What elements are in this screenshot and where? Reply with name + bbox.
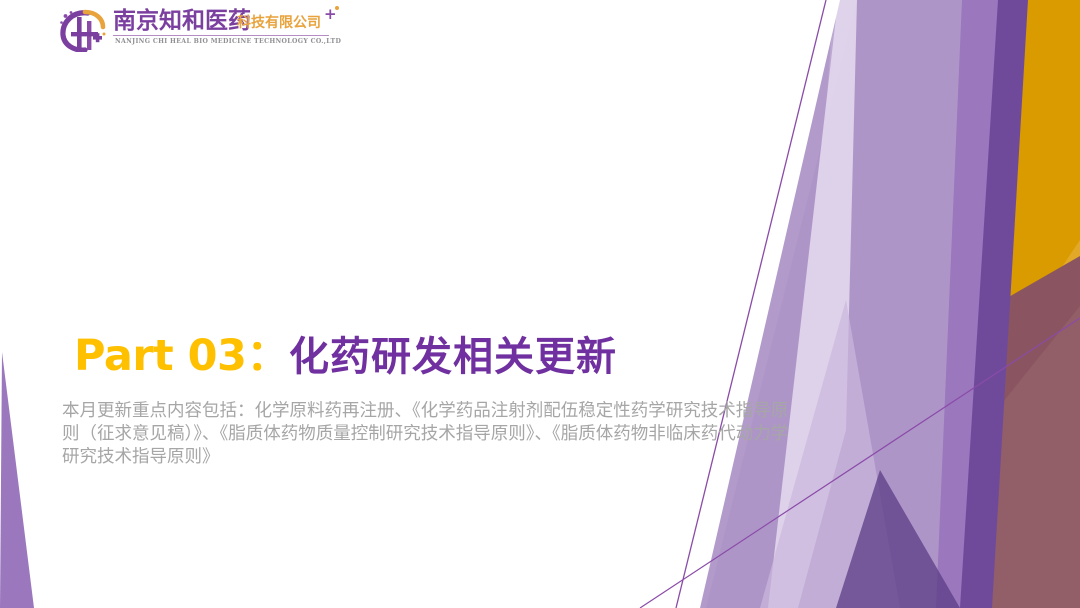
logo-text-block: 南京知和医药 科技有限公司 + NANJING CHI HEAL BIO MED… xyxy=(113,6,363,54)
purple-deep-band-icon xyxy=(790,0,1030,608)
logo-divider xyxy=(113,35,329,36)
logo-company-suffix-cn: 科技有限公司 xyxy=(237,14,321,32)
company-logo: 南京知和医药 科技有限公司 + NANJING CHI HEAL BIO MED… xyxy=(58,6,358,54)
background-decoration-art xyxy=(0,0,1080,608)
white-stripe-icon xyxy=(672,0,840,608)
lilac-sliver-icon xyxy=(790,0,862,608)
right-band-cluster-icon xyxy=(694,0,1080,608)
white-foreground-field-icon xyxy=(0,0,826,608)
logo-company-name-en: NANJING CHI HEAL BIO MEDICINE TECHNOLOGY… xyxy=(115,37,341,46)
logo-company-name-cn: 南京知和医药 xyxy=(113,8,251,34)
purple-light-overlay-icon xyxy=(690,0,960,608)
gold-band-mid-icon xyxy=(846,0,1040,608)
page-title-main: 化药研发相关更新 xyxy=(289,334,617,380)
page-title: Part 03：化药研发相关更新 xyxy=(74,335,617,378)
logo-accent-dot-icon xyxy=(335,6,339,10)
gold-overlay-icon xyxy=(915,0,1080,608)
page-title-prefix: Part 03： xyxy=(74,331,289,381)
purple-wedge-left-icon xyxy=(0,352,34,608)
gold-band-right-icon xyxy=(950,0,1080,608)
slide-canvas: 南京知和医药 科技有限公司 + NANJING CHI HEAL BIO MED… xyxy=(0,0,1080,608)
thin-diagonal-line-a-icon xyxy=(676,0,826,608)
purple-mid-band-icon xyxy=(700,0,1000,608)
maroon-overlay-icon xyxy=(830,300,1080,608)
gold-slim-wedge-icon xyxy=(928,236,1080,608)
subtitle-paragraph: 本月更新重点内容包括：化学原料药再注册、《化学药品注射剂配伍稳定性药学研究技术指… xyxy=(62,400,802,469)
chi-heal-monogram-icon xyxy=(58,8,110,52)
right-cluster-group-icon xyxy=(700,0,1080,608)
